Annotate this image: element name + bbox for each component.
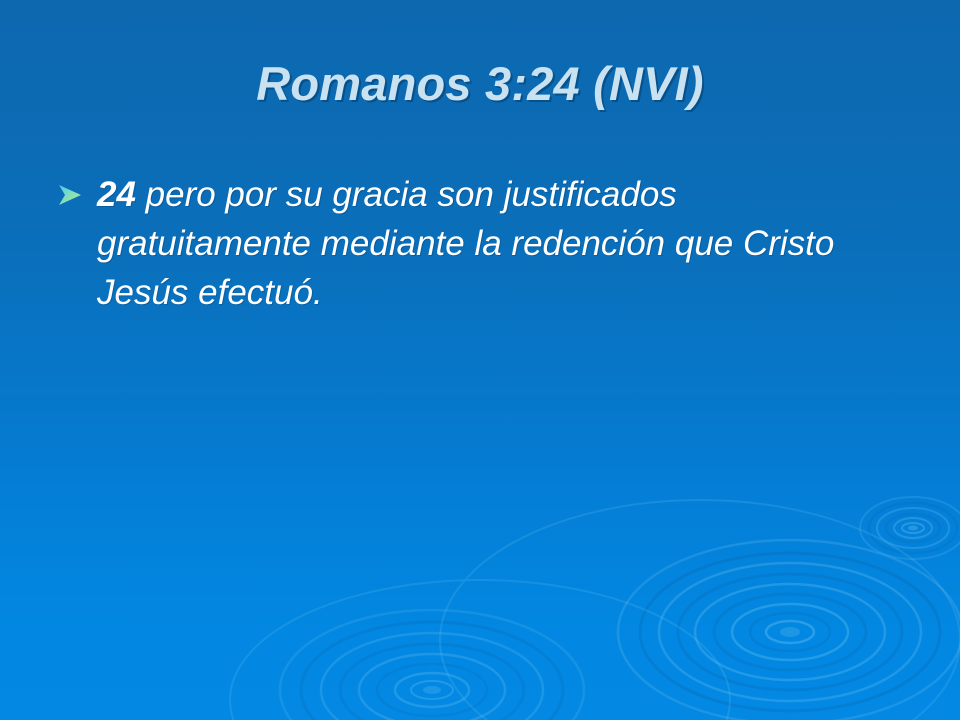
slide-title-container: Romanos 3:24 (NVI)	[0, 56, 960, 111]
water-ripple-icon	[618, 540, 960, 720]
presentation-slide: Romanos 3:24 (NVI) 24 pero por su	[0, 0, 960, 720]
verse-number: 24	[97, 175, 136, 214]
water-swell-decoration	[230, 500, 960, 720]
verse-body-text: pero por su gracia son justificados grat…	[97, 175, 834, 312]
slide-body: 24 pero por su gracia son justificados g…	[56, 170, 896, 317]
list-item-text: 24 pero por su gracia son justificados g…	[97, 170, 842, 317]
water-ripple-icon	[280, 610, 584, 720]
green-arrow-bullet-icon	[56, 172, 84, 218]
water-ripple-icon	[860, 497, 960, 559]
page-title: Romanos 3:24 (NVI)	[256, 56, 704, 111]
list-item: 24 pero por su gracia son justificados g…	[56, 170, 896, 317]
